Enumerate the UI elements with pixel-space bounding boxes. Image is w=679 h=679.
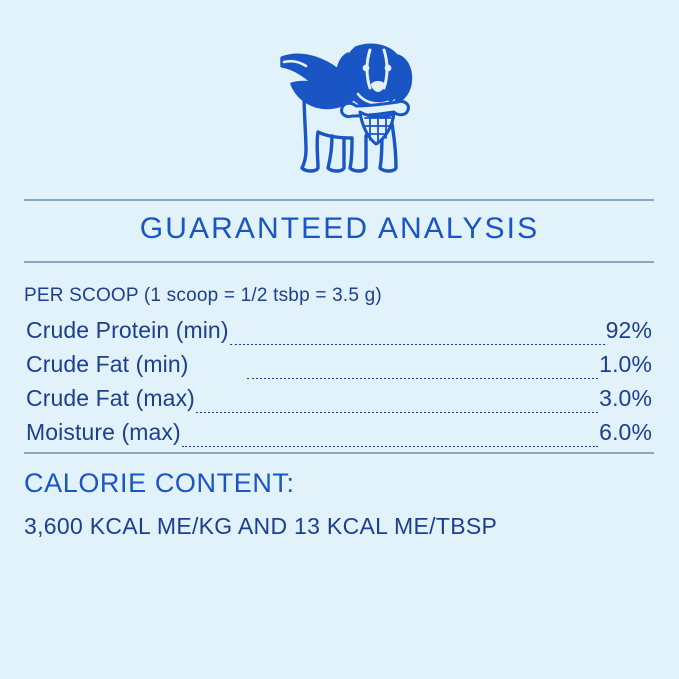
nutrient-value: 6.0% bbox=[599, 419, 652, 446]
nutrient-value: 3.0% bbox=[599, 385, 652, 412]
dog-eye-right bbox=[384, 65, 391, 72]
calorie-content-value: 3,600 KCAL ME/KG AND 13 KCAL ME/TBSP bbox=[24, 515, 497, 538]
table-row: Crude Fat (min) 1.0% bbox=[26, 351, 652, 385]
analysis-table: Crude Protein (min) 92% Crude Fat (min) … bbox=[26, 317, 652, 453]
dotted-leader bbox=[247, 378, 599, 379]
serving-size-note: PER SCOOP (1 scoop = 1/2 tsbp = 3.5 g) bbox=[24, 286, 382, 305]
brand-logo bbox=[0, 28, 679, 188]
dog-eye-left bbox=[362, 65, 369, 72]
guaranteed-analysis-panel: GUARANTEED ANALYSIS PER SCOOP (1 scoop =… bbox=[0, 0, 679, 679]
divider-bottom bbox=[24, 452, 654, 454]
dog-front-leg bbox=[328, 136, 344, 171]
calorie-content-heading: CALORIE CONTENT: bbox=[24, 470, 295, 497]
nutrient-label: Crude Fat (min) bbox=[26, 351, 189, 378]
bone-shape bbox=[341, 101, 408, 116]
nutrient-value: 92% bbox=[606, 317, 652, 344]
nutrient-label: Moisture (max) bbox=[26, 419, 181, 446]
nutrient-value: 1.0% bbox=[599, 351, 652, 378]
dotted-leader bbox=[196, 412, 598, 413]
dog-ear-right bbox=[396, 56, 411, 102]
divider-middle bbox=[24, 261, 654, 263]
dotted-leader bbox=[230, 344, 605, 345]
nutrient-label: Crude Protein (min) bbox=[26, 317, 229, 344]
table-row: Moisture (max) 6.0% bbox=[26, 419, 652, 453]
table-row: Crude Protein (min) 92% bbox=[26, 317, 652, 351]
divider-top bbox=[24, 199, 654, 201]
dog-head bbox=[345, 45, 402, 106]
dog-with-cape-and-bone-logo bbox=[260, 32, 420, 184]
dotted-leader bbox=[182, 446, 598, 447]
nutrient-label: Crude Fat (max) bbox=[26, 385, 195, 412]
table-row: Crude Fat (max) 3.0% bbox=[26, 385, 652, 419]
page-title: GUARANTEED ANALYSIS bbox=[0, 214, 679, 244]
